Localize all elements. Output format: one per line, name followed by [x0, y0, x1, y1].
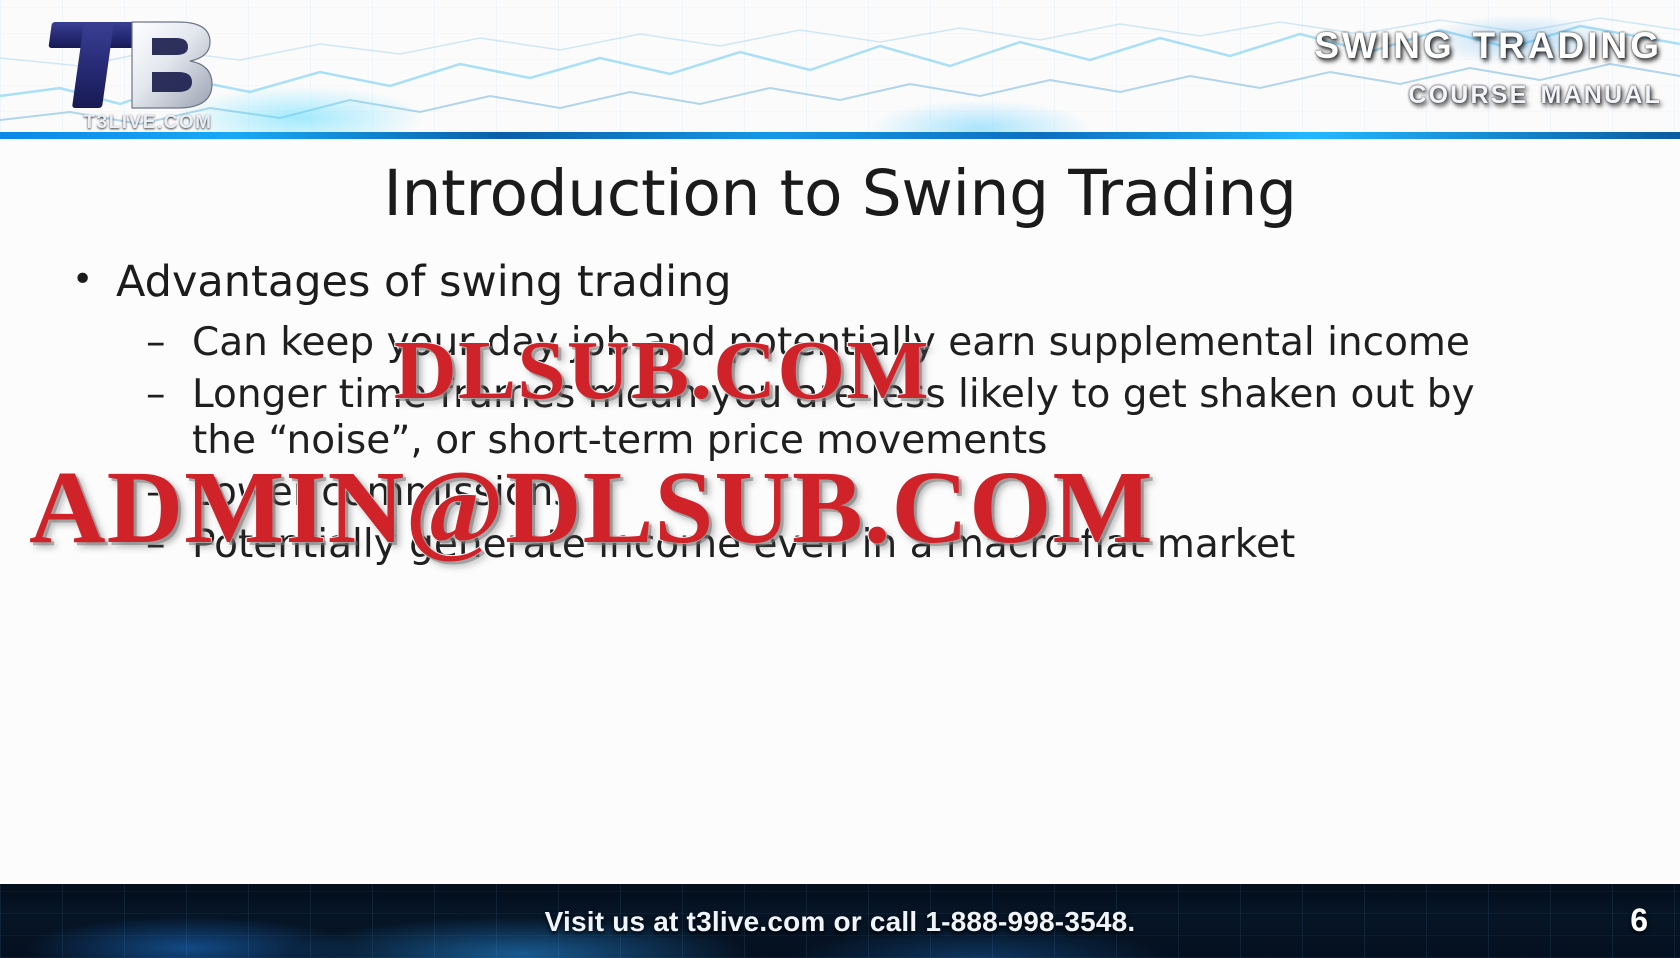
list-item: – Longer time frames mean you are less l… — [146, 372, 1632, 464]
list-item: – Lower commissions — [146, 470, 1632, 516]
dash-marker-icon: – — [146, 522, 192, 568]
header-bottom-divider — [0, 132, 1680, 139]
slide-footer-banner: Visit us at t3live.com or call 1-888-998… — [0, 884, 1680, 958]
bullet-marker-icon: • — [72, 257, 116, 304]
bullet-text: Can keep your day job and potentially ea… — [192, 320, 1482, 366]
slide-body: Introduction to Swing Trading • Advantag… — [0, 139, 1680, 884]
slide-header-banner: T3LIVE.COM Swing Trading Course Manual — [0, 0, 1680, 138]
course-subtitle: Course Manual — [1314, 72, 1662, 112]
bullet-list: • Advantages of swing trading – Can keep… — [72, 257, 1632, 574]
course-title: Swing Trading — [1314, 14, 1662, 68]
dash-marker-icon: – — [146, 372, 192, 418]
course-title-block: Swing Trading Course Manual — [1314, 14, 1662, 112]
list-item: – Can keep your day job and potentially … — [146, 320, 1632, 366]
t3-logo[interactable]: T3LIVE.COM — [28, 8, 248, 136]
list-item: – Potentially generate income even in a … — [146, 522, 1632, 568]
list-item: • Advantages of swing trading — [72, 257, 1632, 308]
dash-marker-icon: – — [146, 470, 192, 516]
bullet-text: Potentially generate income even in a ma… — [192, 522, 1482, 568]
t3-logo-domain-text: T3LIVE.COM — [50, 112, 246, 134]
footer-contact-text: Visit us at t3live.com or call 1-888-998… — [0, 906, 1680, 938]
bullet-text: Lower commissions — [192, 470, 1482, 516]
dash-marker-icon: – — [146, 320, 192, 366]
t3-logo-mark-icon — [28, 8, 248, 118]
page-number: 6 — [1630, 902, 1648, 939]
bullet-text: Longer time frames mean you are less lik… — [192, 372, 1482, 464]
slide-title: Introduction to Swing Trading — [0, 157, 1680, 230]
bullet-text: Advantages of swing trading — [116, 257, 732, 308]
slide-canvas: T3LIVE.COM Swing Trading Course Manual I… — [0, 0, 1680, 958]
